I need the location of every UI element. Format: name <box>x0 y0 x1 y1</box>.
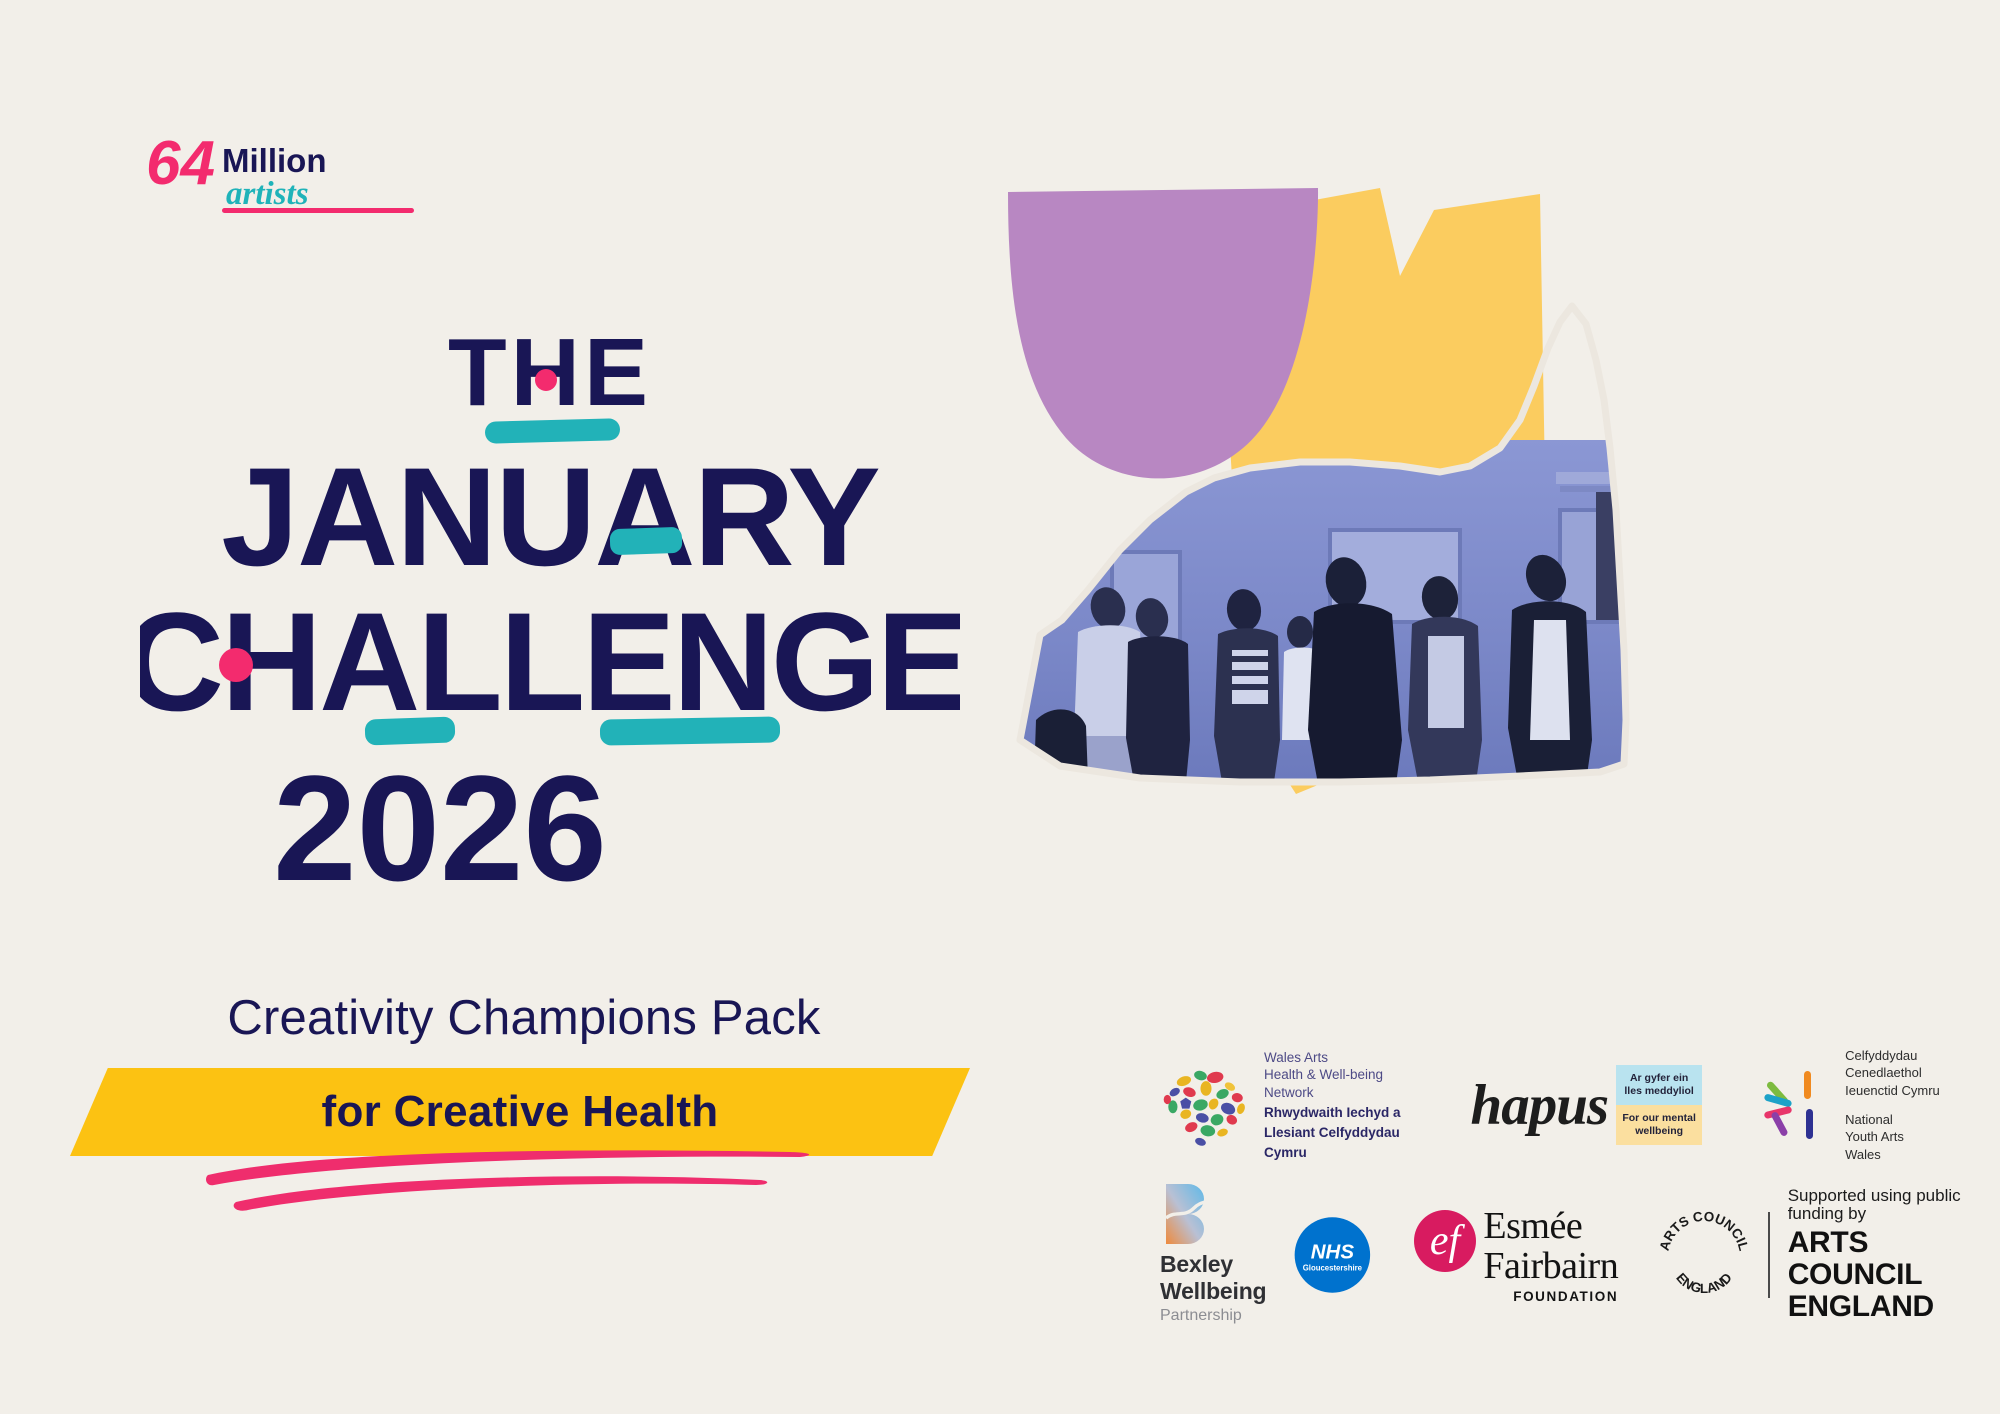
logo-arts-council-england: ARTS COUNCIL ENGLAND Supported using pub… <box>1658 1187 1975 1322</box>
ace-ring-bottom: ENGLAND <box>1673 1270 1735 1296</box>
pink-squiggle-underline <box>200 1140 840 1220</box>
nhs-mark: NHS <box>1310 1240 1354 1263</box>
bexley-b-icon <box>1160 1184 1222 1244</box>
wales-arts-text: Wales Arts Health & Well-being Network R… <box>1264 1049 1401 1162</box>
bexley-line1: Bexley <box>1160 1251 1267 1278</box>
partner-logo-row-bottom: Bexley Wellbeing Partnership NHS Glouces… <box>1160 1190 1975 1320</box>
hero-dot-the <box>535 369 557 391</box>
hapus-badge-welsh-line1: Ar gyfer ein <box>1620 1072 1698 1085</box>
hero-line-year: 2026 <box>273 744 607 900</box>
wales-cy-line1: Rhwydwaith Iechyd a <box>1264 1104 1401 1122</box>
hero-dot-challenge <box>219 648 253 682</box>
nyaw-burst-icon <box>1762 1069 1834 1141</box>
brand-word: Million <box>222 142 326 179</box>
bexley-text: Bexley Wellbeing Partnership <box>1160 1251 1267 1326</box>
logo-nhs-gloucestershire: NHS Gloucestershire <box>1293 1207 1372 1303</box>
poster-canvas: 64 Million artists .hand { font-family: … <box>0 0 2000 1414</box>
wales-en-line1: Wales Arts <box>1264 1049 1401 1067</box>
esmee-line2: Fairbairn <box>1483 1247 1618 1285</box>
wales-cy-line2: Llesiant Celfyddydau <box>1264 1124 1401 1142</box>
nyaw-cy-line1: Celfyddydau <box>1845 1047 1940 1064</box>
esmee-text: Esmée Fairbairn FOUNDATION <box>1483 1207 1618 1304</box>
nyaw-en-line1: National <box>1845 1111 1940 1128</box>
esmee-line3: FOUNDATION <box>1483 1290 1618 1304</box>
nyaw-en-line2: Youth Arts <box>1845 1128 1940 1145</box>
hapus-badge-english-line2: wellbeing <box>1620 1125 1698 1138</box>
wales-cy-line3: Cymru <box>1264 1144 1401 1162</box>
mosaic-heart-icon <box>1160 1059 1252 1151</box>
bexley-line2: Wellbeing <box>1160 1278 1267 1305</box>
nyaw-en-line3: Wales <box>1845 1146 1940 1163</box>
esmee-mark-text: ef <box>1430 1218 1466 1264</box>
collage-artwork <box>1000 180 1820 1010</box>
brand-logo-64-million-artists: 64 Million artists <box>146 128 416 216</box>
ace-line1: ARTS COUNCIL <box>1788 1227 1975 1291</box>
partner-logo-row-top: Wales Arts Health & Well-being Network R… <box>1160 1045 1940 1165</box>
nyaw-cy-line2: Cenedlaethol <box>1845 1064 1940 1081</box>
ace-ring-top: ARTS COUNCIL <box>1658 1209 1750 1252</box>
hero-highlight-january <box>610 527 683 555</box>
ace-line2: ENGLAND <box>1788 1291 1975 1323</box>
hapus-badge-welsh: Ar gyfer ein lles meddyliol <box>1616 1065 1702 1105</box>
logo-hapus: hapus Ar gyfer ein lles meddyliol For ou… <box>1471 1065 1703 1144</box>
subtitle-block: Creativity Champions Pack for Creative H… <box>70 990 970 1156</box>
subtitle-text: Creativity Champions Pack <box>84 990 964 1046</box>
nhs-region: Gloucestershire <box>1302 1264 1362 1273</box>
hero-underline-ha <box>365 716 456 745</box>
hapus-badge-english-line1: For our mental <box>1620 1112 1698 1125</box>
bexley-line3: Partnership <box>1160 1307 1267 1326</box>
brand-script: artists <box>226 176 309 212</box>
collage-photo <box>1000 440 1820 800</box>
hapus-wordmark: hapus <box>1471 1077 1609 1134</box>
hapus-badges: Ar gyfer ein lles meddyliol For our ment… <box>1616 1065 1702 1144</box>
nyaw-english: National Youth Arts Wales <box>1845 1111 1940 1163</box>
squiggle-stroke-2 <box>234 1176 768 1210</box>
brand-underline <box>222 208 414 213</box>
hero-title: .hand { font-family: "Liberation Sans", … <box>140 300 960 900</box>
nyaw-text: Celfyddydau Cenedlaethol Ieuenctid Cymru… <box>1845 1047 1940 1163</box>
ace-ring-icon: ARTS COUNCIL ENGLAND <box>1658 1209 1750 1301</box>
wales-en-line2: Health & Well-being <box>1264 1066 1401 1084</box>
nyaw-cy-line3: Ieuenctid Cymru <box>1845 1082 1940 1099</box>
logo-wales-arts-health-wellbeing-network: Wales Arts Health & Well-being Network R… <box>1160 1049 1401 1162</box>
brand-number: 64 <box>146 129 215 198</box>
hapus-badge-english: For our mental wellbeing <box>1616 1105 1702 1145</box>
logo-esmee-fairbairn-foundation: ef Esmée Fairbairn FOUNDATION <box>1413 1207 1618 1304</box>
hapus-badge-welsh-line2: lles meddyliol <box>1620 1085 1698 1098</box>
ace-text: Supported using public funding by ARTS C… <box>1788 1187 1975 1322</box>
ace-supported-line: Supported using public funding by <box>1788 1187 1975 1223</box>
hero-line-january: JANUARY <box>221 438 879 595</box>
wales-en-line3: Network <box>1264 1084 1401 1102</box>
esmee-ef-icon: ef <box>1413 1209 1477 1273</box>
hero-line-challenge: CHALLENGE <box>140 583 960 740</box>
ace-divider <box>1768 1212 1769 1298</box>
logo-national-youth-arts-wales: Celfyddydau Cenedlaethol Ieuenctid Cymru… <box>1762 1047 1940 1163</box>
partner-logos: Wales Arts Health & Well-being Network R… <box>1160 1045 1950 1355</box>
esmee-line1: Esmée <box>1483 1207 1618 1245</box>
hero-underline-lle <box>600 716 780 745</box>
nyaw-welsh: Celfyddydau Cenedlaethol Ieuenctid Cymru <box>1845 1047 1940 1099</box>
logo-bexley-wellbeing-partnership: Bexley Wellbeing Partnership <box>1160 1184 1267 1326</box>
